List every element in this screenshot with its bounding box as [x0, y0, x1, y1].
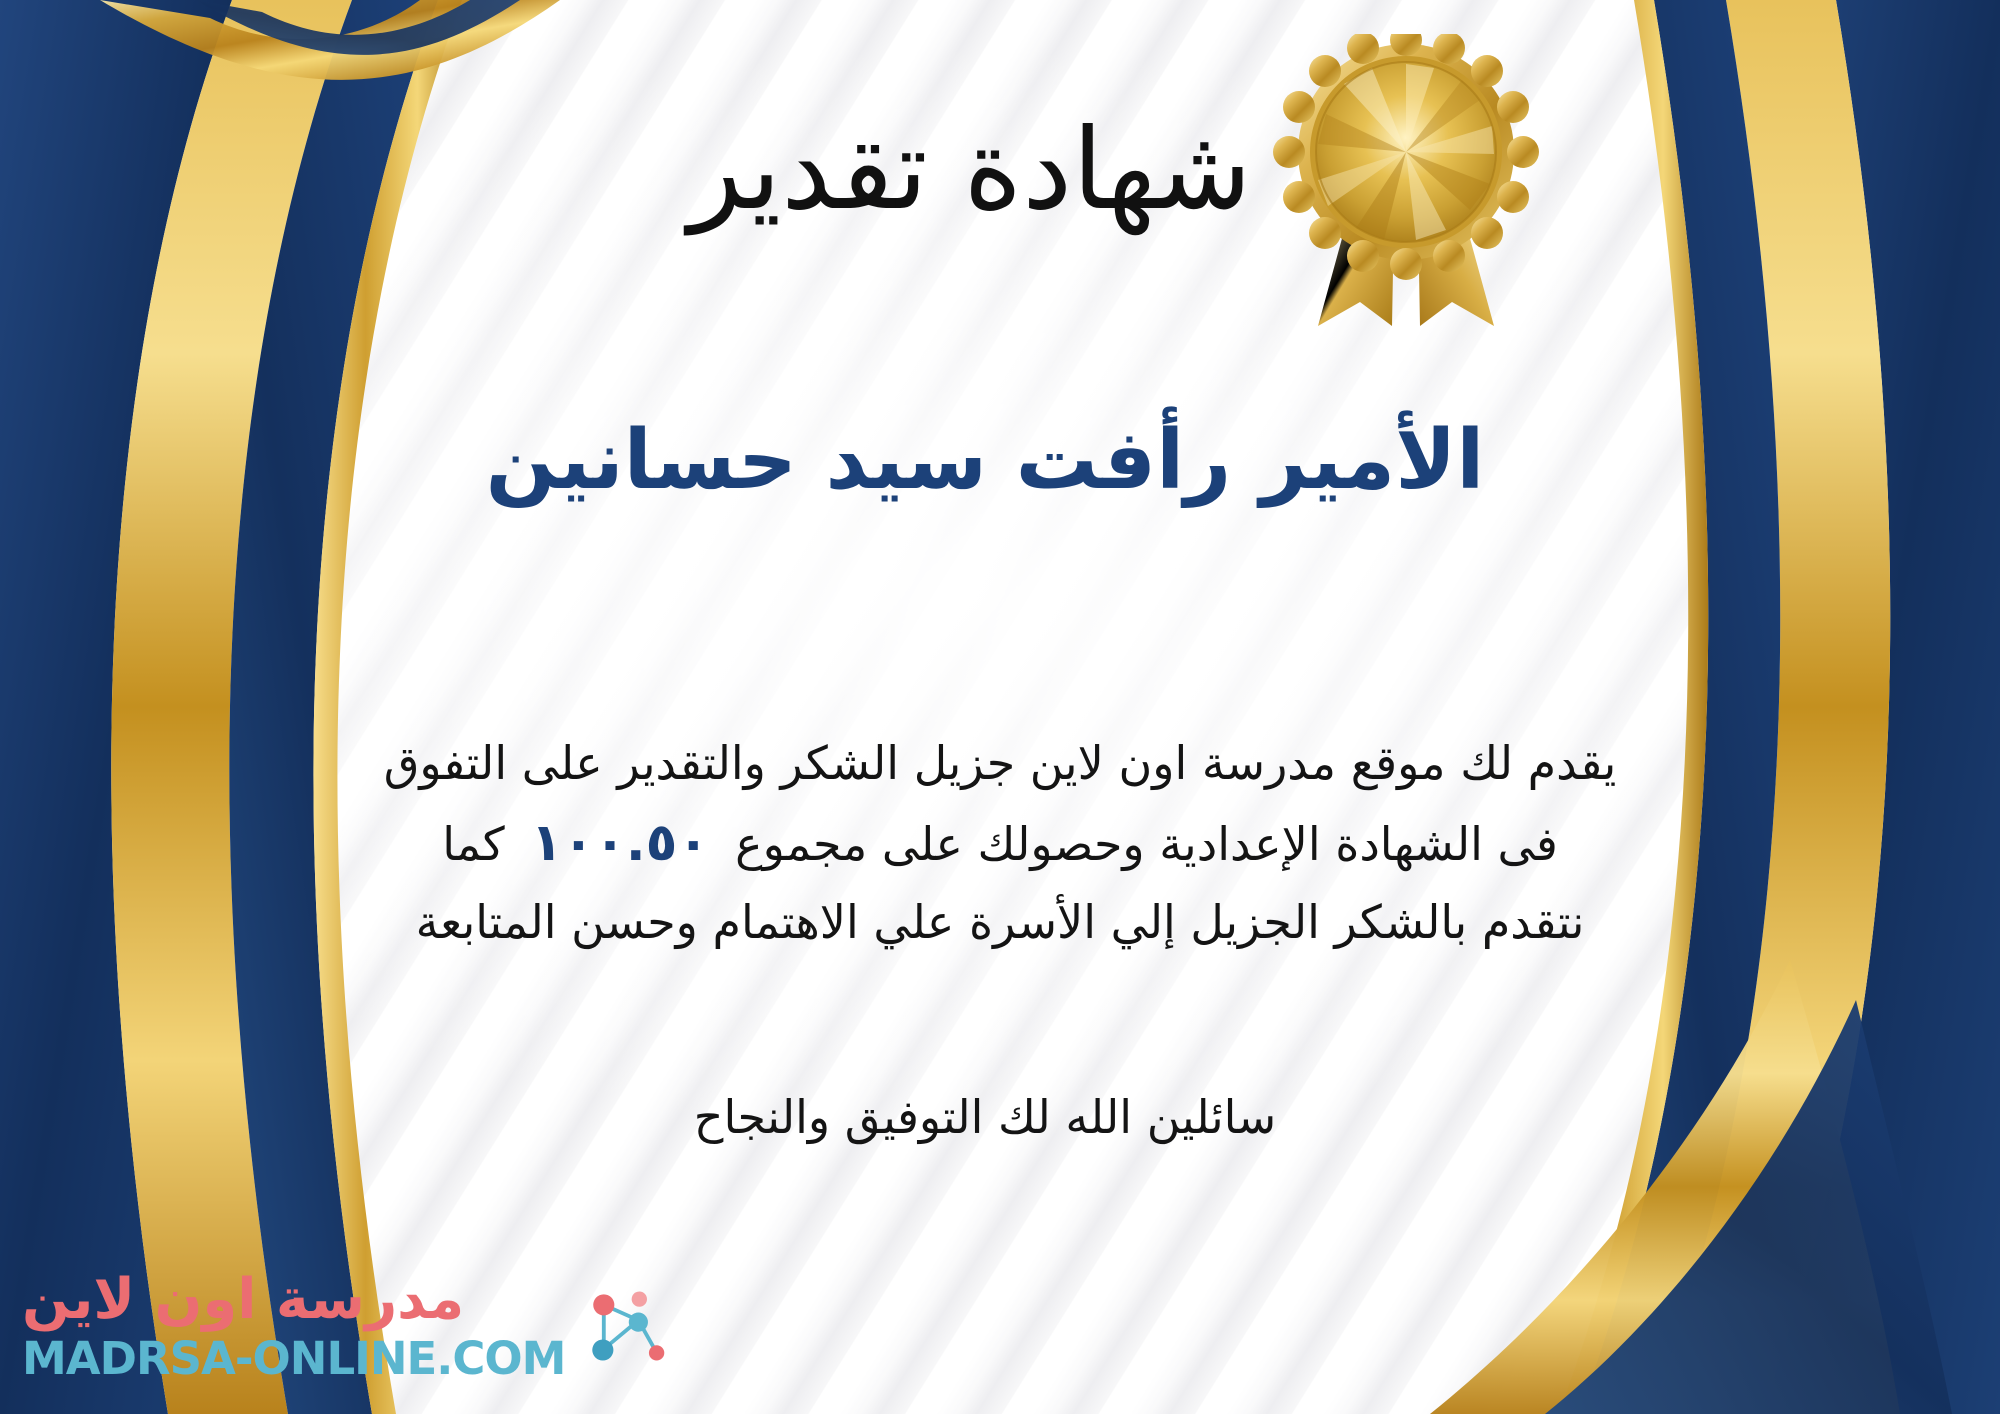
body-line-2-prefix: فى الشهادة الإعدادية وحصولك على مجموع	[735, 817, 1558, 871]
recipient-name: الأمير رأفت سيد حسانين	[0, 412, 2000, 510]
body-line-1: يقدم لك موقع مدرسة اون لاين جزيل الشكر و…	[56, 726, 1944, 801]
body-line-2-suffix: كما	[442, 817, 505, 871]
score-value: ١٠٠.٥٠	[505, 813, 735, 873]
certificate-content: شهادة تقدير الأمير رأفت سيد حسانين يقدم …	[0, 0, 2000, 1414]
certificate-canvas: شهادة تقدير الأمير رأفت سيد حسانين يقدم …	[0, 0, 2000, 1414]
gold-award-medal-icon	[1256, 34, 1556, 334]
brand-text: مدرسة اون لاين MADRSA-ONLINE.COM	[22, 1272, 565, 1381]
certificate-body: يقدم لك موقع مدرسة اون لاين جزيل الشكر و…	[56, 726, 1944, 959]
brand-name-arabic: مدرسة اون لاين	[22, 1272, 464, 1328]
brand-logo[interactable]: مدرسة اون لاين MADRSA-ONLINE.COM	[22, 1256, 542, 1396]
brand-website-url: MADRSA-ONLINE.COM	[22, 1336, 565, 1381]
body-line-2: فى الشهادة الإعدادية وحصولك على مجموع١٠٠…	[56, 801, 1944, 885]
page-title: شهادة تقدير	[0, 112, 2000, 230]
network-nodes-icon	[575, 1278, 671, 1374]
closing-wish: سائلين الله لك التوفيق والنجاح	[0, 1090, 2000, 1144]
body-line-3: نتقدم بالشكر الجزيل إلي الأسرة علي الاهت…	[56, 885, 1944, 960]
